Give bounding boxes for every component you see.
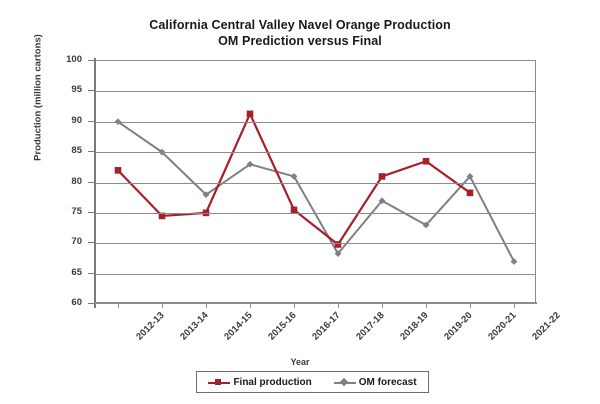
y-tick-mark: [88, 242, 95, 243]
y-tick-mark: [88, 60, 95, 61]
x-tick-label: 2020-21: [486, 310, 518, 342]
data-point-marker: [335, 241, 342, 248]
chart-figure: California Central Valley Navel Orange P…: [0, 0, 600, 404]
gridline: [96, 152, 536, 153]
y-tick-mark: [88, 182, 95, 183]
gridline: [96, 243, 536, 244]
x-tick-label: 2015-16: [266, 310, 298, 342]
legend-swatch-om-forecast: [334, 377, 356, 387]
y-tick-label: 85: [48, 145, 82, 156]
y-tick-label: 70: [48, 236, 82, 247]
chart-title: California Central Valley Navel Orange P…: [0, 17, 600, 49]
plot-area: [96, 60, 536, 303]
y-tick-mark: [88, 273, 95, 274]
y-tick-mark: [88, 121, 95, 122]
y-tick-mark: [88, 90, 95, 91]
data-point-marker: [467, 190, 474, 197]
legend-label-om-forecast: OM forecast: [359, 377, 417, 388]
data-point-marker: [247, 111, 254, 118]
x-tick-label: 2019-20: [442, 310, 474, 342]
data-point-marker: [423, 158, 430, 165]
legend-swatch-final-production: [208, 377, 230, 387]
x-axis-title: Year: [0, 357, 600, 367]
y-tick-label: 95: [48, 84, 82, 95]
data-point-marker: [511, 258, 518, 265]
chart-legend: Final production OM forecast: [196, 371, 429, 393]
gridline: [96, 122, 536, 123]
x-tick-label: 2012-13: [134, 310, 166, 342]
gridline: [96, 183, 536, 184]
chart-title-line-2: OM Prediction versus Final: [0, 33, 600, 49]
gridline: [96, 213, 536, 214]
y-tick-mark: [88, 151, 95, 152]
y-tick-mark: [88, 212, 95, 213]
legend-item-final-production[interactable]: Final production: [208, 377, 311, 388]
y-tick-label: 65: [48, 267, 82, 278]
x-tick-label: 2013-14: [178, 310, 210, 342]
x-tick-label: 2017-18: [354, 310, 386, 342]
x-tick-label: 2021-22: [530, 310, 562, 342]
data-point-marker: [115, 167, 122, 174]
x-tick-label: 2018-19: [398, 310, 430, 342]
chart-title-line-1: California Central Valley Navel Orange P…: [0, 17, 600, 33]
y-tick-label: 100: [48, 54, 82, 65]
gridline: [96, 91, 536, 92]
y-tick-label: 75: [48, 206, 82, 217]
x-tick-label: 2016-17: [310, 310, 342, 342]
y-axis-title: Production (million cartons): [33, 13, 44, 183]
y-tick-label: 90: [48, 115, 82, 126]
plot-wrap: [96, 60, 536, 303]
gridline: [96, 274, 536, 275]
y-tick-label: 80: [48, 176, 82, 187]
y-tick-mark: [88, 303, 95, 304]
y-tick-label: 60: [48, 297, 82, 308]
legend-item-om-forecast[interactable]: OM forecast: [334, 377, 417, 388]
x-tick-label: 2014-15: [222, 310, 254, 342]
data-point-marker: [379, 173, 386, 180]
legend-label-final-production: Final production: [233, 377, 311, 388]
series-line-om-forecast: [118, 122, 514, 262]
